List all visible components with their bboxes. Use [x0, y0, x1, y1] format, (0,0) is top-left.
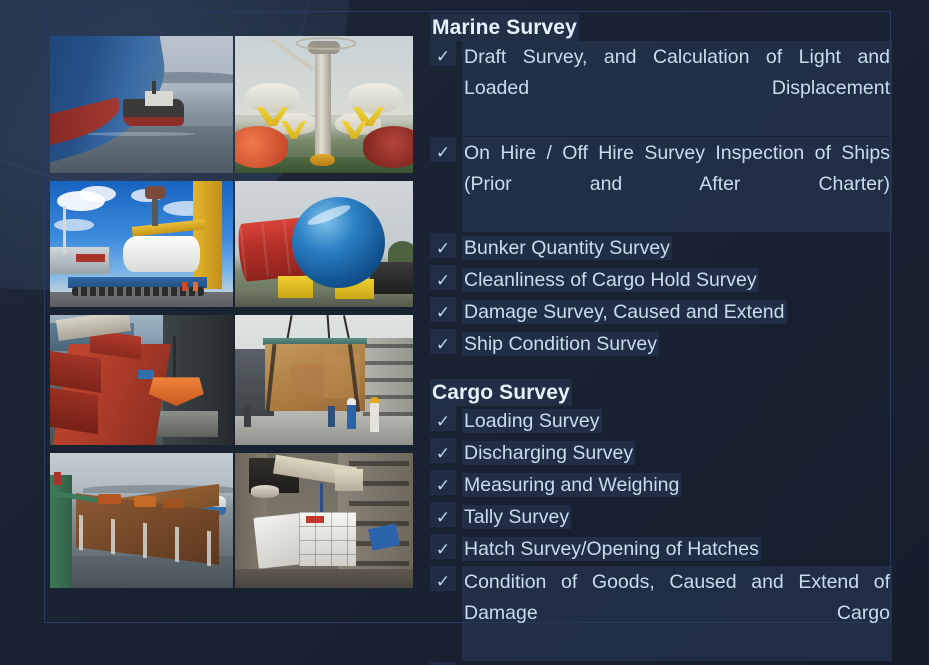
list-item: ✓ Discharging Survey — [430, 438, 892, 469]
marine-survey-item-1: Draft Survey, and Calculation of Light a… — [462, 41, 892, 136]
check-icon: ✓ — [430, 406, 456, 431]
list-item: ✓ Bunker Quantity Survey — [430, 233, 892, 264]
list-item: ✓ Draft Survey, and Calculation of Light… — [430, 41, 892, 136]
cargo-survey-section: Cargo Survey ✓ Loading Survey ✓ Discharg… — [430, 379, 892, 665]
check-icon: ✓ — [430, 137, 456, 162]
cargo-survey-item-5: Hatch Survey/Opening of Hatches — [462, 537, 761, 561]
list-item: ✓ Hatch Survey/Opening of Hatches — [430, 534, 892, 565]
marine-survey-item-2: On Hire / Off Hire Survey Inspection of … — [462, 137, 892, 232]
photo-blue-domed-pressure-vessel — [235, 181, 413, 307]
cargo-survey-item-3: Measuring and Weighing — [462, 473, 681, 497]
slide-root: Marine Survey ✓ Draft Survey, and Calcul… — [0, 0, 929, 665]
marine-survey-item-3: Bunker Quantity Survey — [462, 236, 672, 260]
cargo-survey-item-6: Condition of Goods, Caused and Extend of… — [462, 566, 892, 661]
marine-survey-item-6: Ship Condition Survey — [462, 332, 659, 356]
photo-cargo-hold-interior-with-crates — [235, 453, 413, 588]
check-icon: ✓ — [430, 566, 456, 591]
cargo-survey-heading: Cargo Survey — [430, 379, 572, 406]
list-item: ✓ On Hire / Off Hire Survey Inspection o… — [430, 137, 892, 232]
check-icon: ✓ — [430, 534, 456, 559]
photo-bulk-carrier-deck-with-grab — [50, 315, 233, 445]
list-item: ✓ Condition of Goods, Caused and Extend … — [430, 566, 892, 661]
cargo-survey-item-4: Tally Survey — [462, 505, 571, 529]
check-icon: ✓ — [430, 233, 456, 258]
photo-crane-lifting-white-vessel — [50, 181, 233, 307]
list-item: ✓ Measuring and Weighing — [430, 470, 892, 501]
check-icon: ✓ — [430, 438, 456, 463]
cargo-survey-item-1: Loading Survey — [462, 409, 602, 433]
photo-wooden-crate-lifted-by-slings — [235, 315, 413, 445]
list-item: ✓ Damage Survey, Caused and Extend — [430, 297, 892, 328]
section-spacer — [430, 361, 892, 379]
image-gallery — [50, 36, 413, 588]
list-item: ✓ Cleanliness of Cargo Hold Survey — [430, 265, 892, 296]
check-icon: ✓ — [430, 265, 456, 290]
list-item: ✓ Loading Survey — [430, 406, 892, 437]
list-item: ✓ Ship Condition Survey — [430, 329, 892, 360]
check-icon: ✓ — [430, 470, 456, 495]
marine-survey-item-5: Damage Survey, Caused and Extend — [462, 300, 787, 324]
check-icon: ✓ — [430, 297, 456, 322]
check-icon: ✓ — [430, 502, 456, 527]
slide-content: Marine Survey ✓ Draft Survey, and Calcul… — [0, 0, 929, 665]
services-text-panel: Marine Survey ✓ Draft Survey, and Calcul… — [430, 14, 892, 665]
cargo-survey-list: ✓ Loading Survey ✓ Discharging Survey ✓ … — [430, 406, 892, 665]
list-item: ✓ Tally Survey — [430, 502, 892, 533]
photo-ship-deck-mast-and-hoses — [235, 36, 413, 173]
marine-survey-heading: Marine Survey — [430, 14, 579, 41]
check-icon: ✓ — [430, 329, 456, 354]
cargo-survey-item-2: Discharging Survey — [462, 441, 635, 465]
photo-ship-bow-with-tugboat — [50, 36, 233, 173]
marine-survey-section: Marine Survey ✓ Draft Survey, and Calcul… — [430, 14, 892, 360]
marine-survey-item-4: Cleanliness of Cargo Hold Survey — [462, 268, 759, 292]
photo-rusty-barge-alongside — [50, 453, 233, 588]
marine-survey-list: ✓ Draft Survey, and Calculation of Light… — [430, 41, 892, 360]
check-icon: ✓ — [430, 41, 456, 66]
